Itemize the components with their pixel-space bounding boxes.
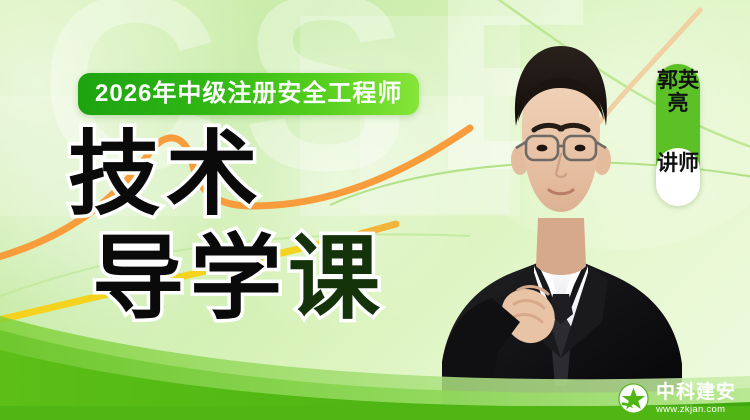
instructor-photo bbox=[436, 22, 686, 420]
instructor-title: 讲师 bbox=[656, 152, 700, 176]
brand-website-url: www.zkjan.com bbox=[656, 405, 736, 415]
brand-logo: 中科建安 www.zkjan.com bbox=[618, 383, 736, 415]
page-title: 技术 导学课 bbox=[68, 126, 386, 329]
headline-line-2-accent: 课 bbox=[288, 228, 386, 330]
course-kicker-label: 2026年中级注册安全工程师 bbox=[95, 82, 402, 106]
brand-company-name: 中科建安 bbox=[656, 383, 736, 402]
headline-line-1: 技术 bbox=[68, 126, 386, 224]
instructor-name: 郭英亮 bbox=[656, 70, 700, 115]
brand-logo-text: 中科建安 www.zkjan.com bbox=[656, 383, 736, 415]
headline-line-2-dark: 导学 bbox=[92, 228, 288, 330]
instructor-title-badge: 讲师 bbox=[656, 148, 700, 206]
headline-line-2: 导学课 bbox=[92, 230, 386, 328]
course-poster: CSE 2026年中级注册安全工程师 技术 导学课 bbox=[0, 0, 750, 420]
zkjan-logo-icon bbox=[618, 383, 649, 414]
course-kicker-badge: 2026年中级注册安全工程师 bbox=[78, 73, 419, 115]
